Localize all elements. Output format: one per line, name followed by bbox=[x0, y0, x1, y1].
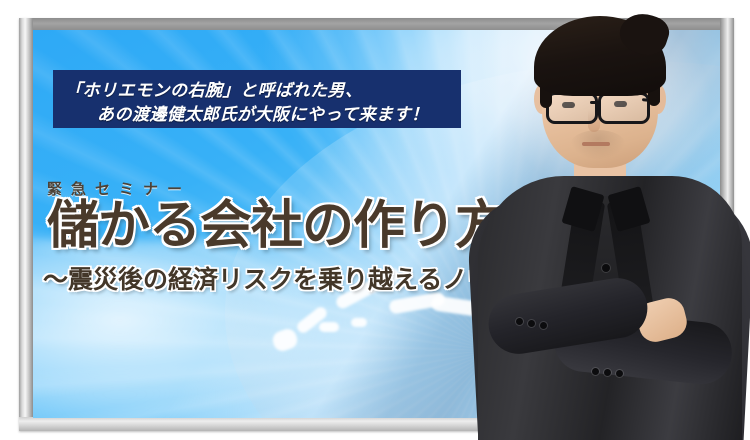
presenter-photo bbox=[470, 0, 750, 440]
page-title: 儲かる会社の作り方 bbox=[47, 200, 506, 252]
presenter-cuff-button bbox=[592, 368, 599, 375]
frame-edge-left bbox=[19, 18, 33, 431]
japan-map-icon bbox=[319, 322, 339, 332]
presenter-jacket-button bbox=[602, 264, 610, 272]
headline-line-1: 「ホリエモンの右腕」と呼ばれた男、 bbox=[65, 76, 363, 101]
presenter-cuff-button bbox=[528, 320, 535, 327]
glasses-icon bbox=[598, 92, 650, 124]
poster-stage: 「ホリエモンの右腕」と呼ばれた男、 あの渡邊健太郎氏が大阪にやって来ます！ 緊急… bbox=[0, 0, 750, 440]
headline-line-2: あの渡邊健太郎氏が大阪にやって来ます！ bbox=[97, 100, 429, 125]
presenter-cuff-button bbox=[540, 322, 547, 329]
glasses-icon bbox=[546, 92, 598, 124]
japan-map-icon bbox=[351, 318, 367, 327]
presenter-cuff-button bbox=[604, 369, 611, 376]
presenter-cuff-button bbox=[516, 318, 523, 325]
glasses-bridge bbox=[590, 101, 600, 104]
headline-banner: 「ホリエモンの右腕」と呼ばれた男、 あの渡邊健太郎氏が大阪にやって来ます！ bbox=[53, 70, 461, 128]
presenter-mouth bbox=[582, 142, 610, 146]
presenter-cuff-button bbox=[616, 370, 623, 377]
